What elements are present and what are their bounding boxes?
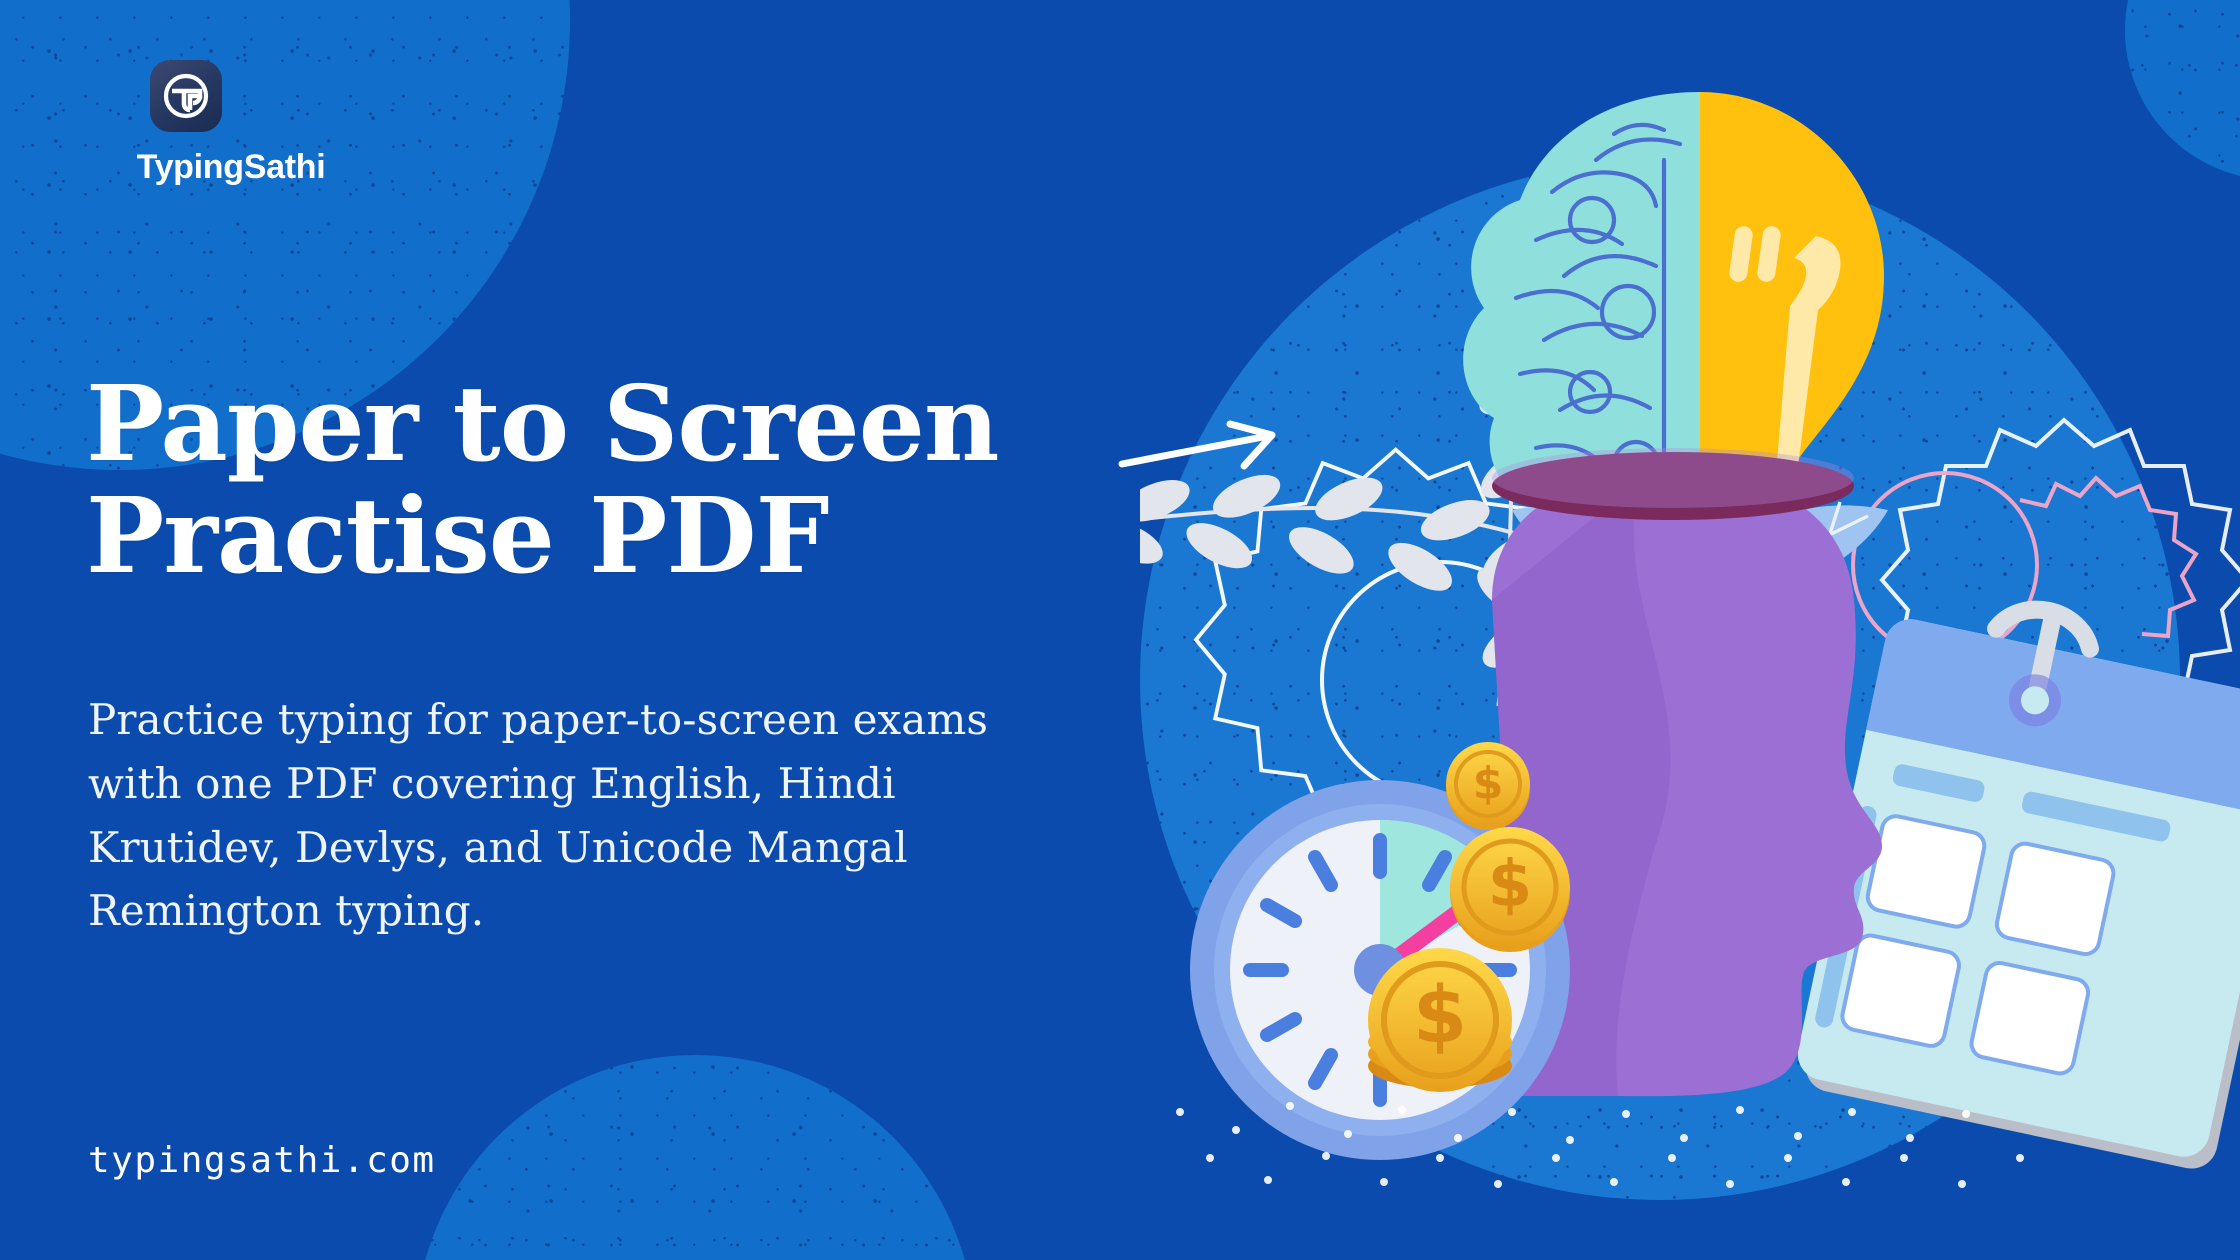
svg-text:$: $ xyxy=(1488,848,1533,922)
typingsathi-monogram-icon xyxy=(150,60,222,132)
page-title: Paper to Screen Practise PDF xyxy=(86,368,1146,593)
hero-content: TypingSathi Paper to Screen Practise PDF… xyxy=(0,0,1180,1260)
svg-text:$: $ xyxy=(1413,971,1467,1061)
promo-banner: TypingSathi Paper to Screen Practise PDF… xyxy=(0,0,2240,1260)
brand-name: TypingSathi xyxy=(88,148,374,187)
brand-lockup[interactable]: TypingSathi xyxy=(88,60,448,187)
headline-line-1: Paper to Screen xyxy=(86,368,1146,480)
svg-text:$: $ xyxy=(1473,758,1504,809)
page-subtitle: Practice typing for paper-to-screen exam… xyxy=(88,688,1078,943)
site-url[interactable]: typingsathi.com xyxy=(88,1140,436,1181)
headline-line-2: Practise PDF xyxy=(86,480,1146,592)
hero-illustration: $ $ $ xyxy=(1140,40,2240,1220)
